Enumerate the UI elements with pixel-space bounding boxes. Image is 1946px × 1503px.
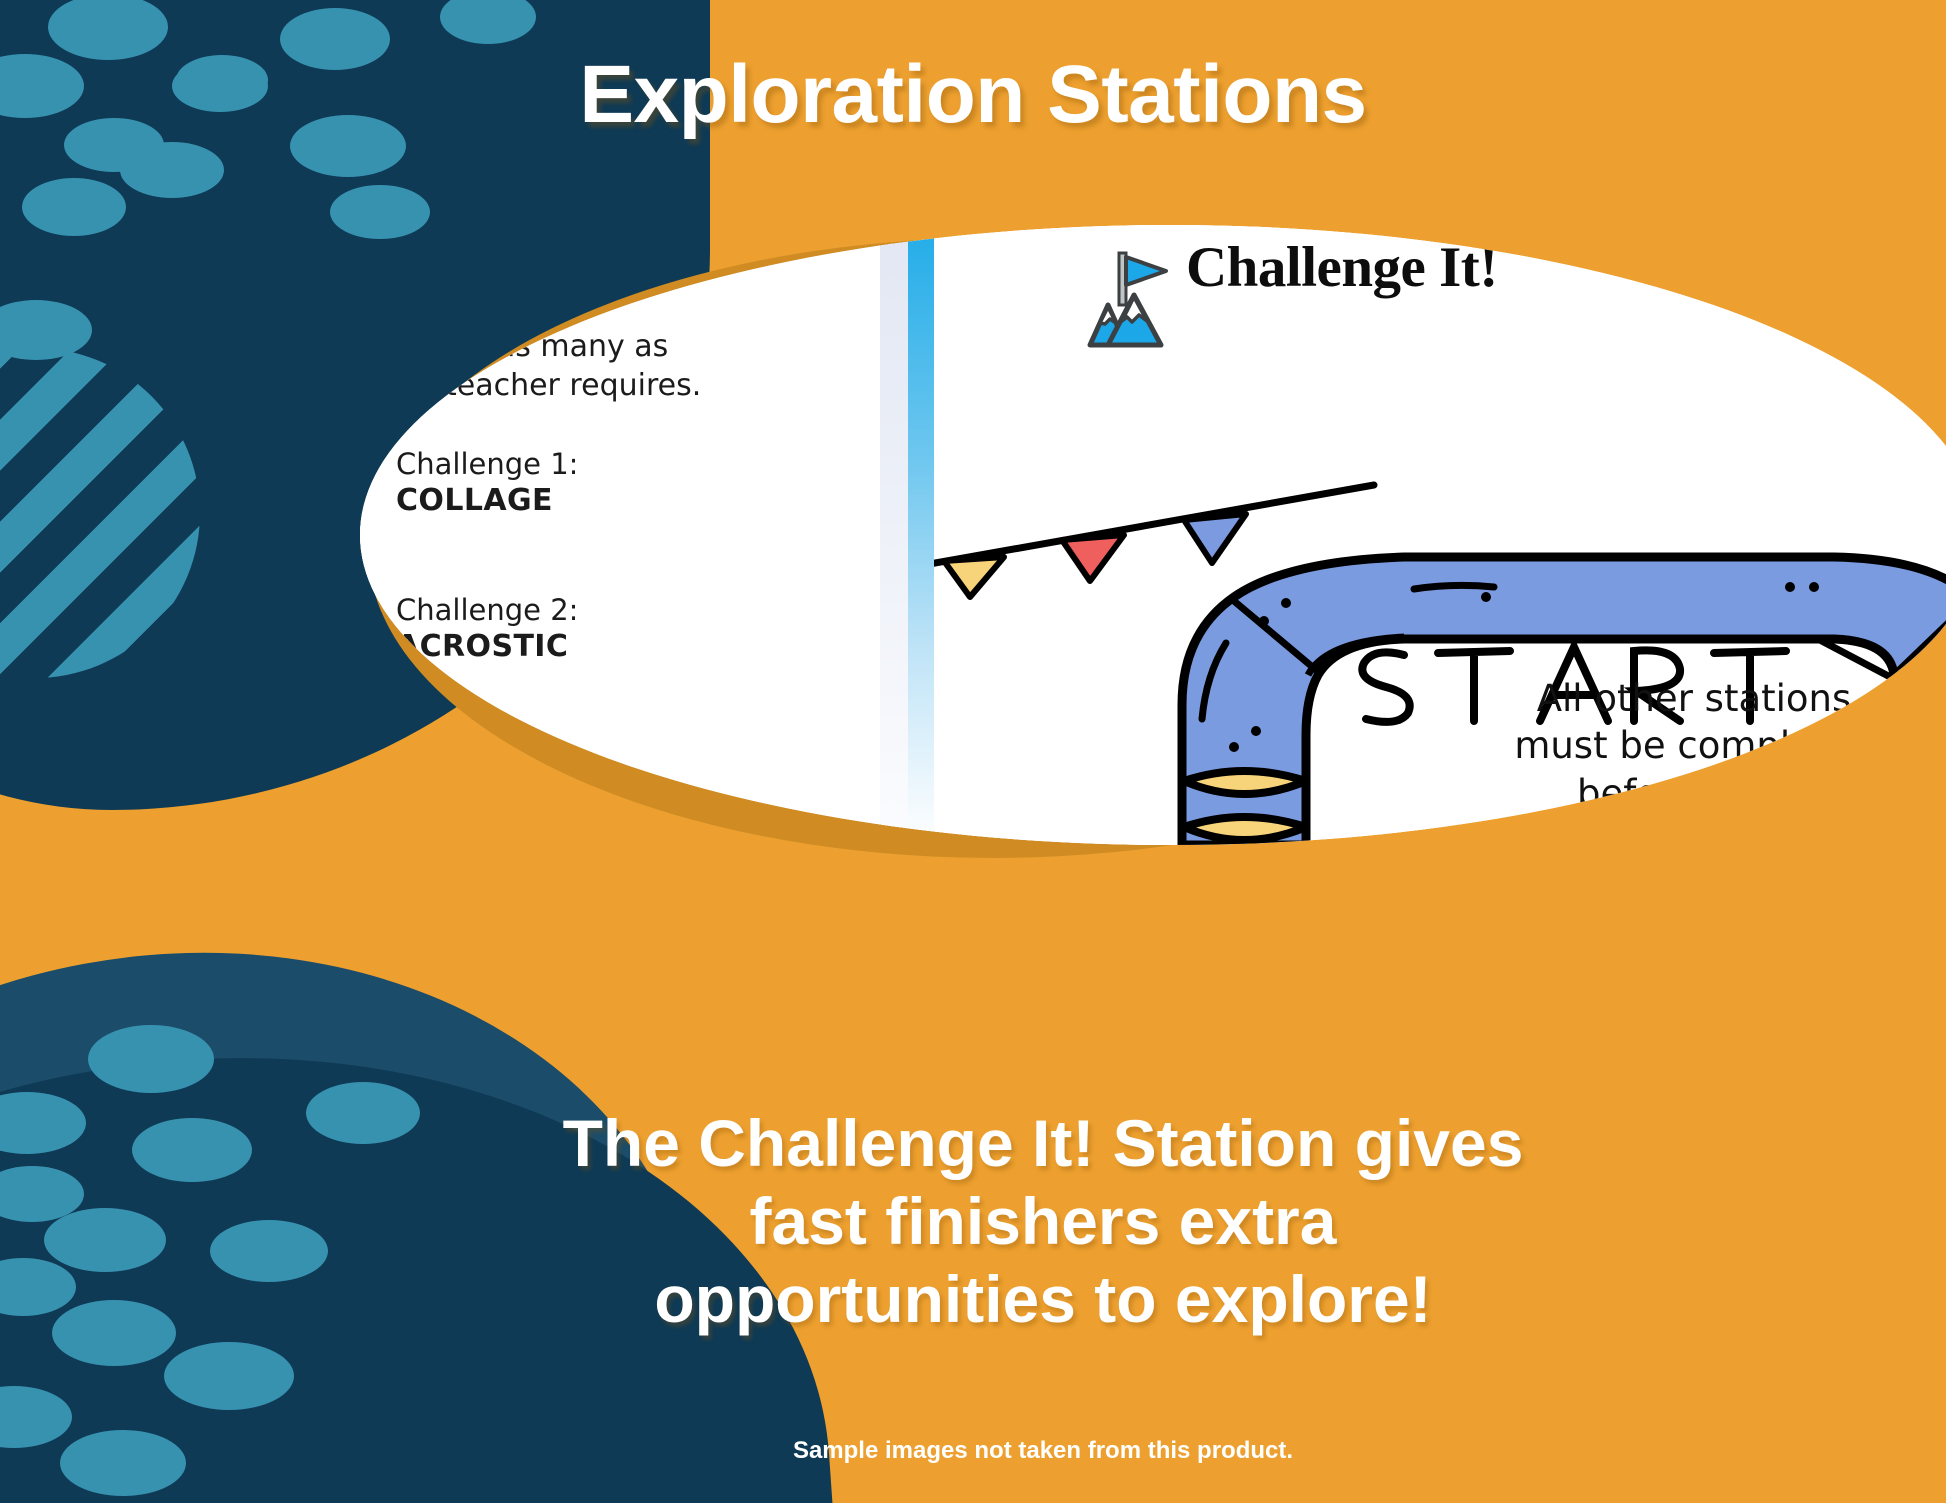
dot-decoration xyxy=(120,142,224,198)
caption-text: The Challenge It! Station gives fast fin… xyxy=(380,1105,1706,1339)
challenge-3-label: Challenge 3: xyxy=(378,737,560,771)
arch-sparkle-dot xyxy=(1481,592,1491,602)
arch-sparkle-dot xyxy=(1281,598,1291,608)
right-slide-panel: Challenge It! xyxy=(934,225,1946,845)
poster-canvas: Exploration Stations e next slides. mple… xyxy=(0,0,1946,1503)
doc-intro-line-3: your teacher requires. xyxy=(368,368,701,403)
page-title: Exploration Stations xyxy=(0,48,1946,142)
dot-decoration xyxy=(0,300,92,360)
dot-decoration xyxy=(22,178,126,236)
dot-decoration xyxy=(88,1025,214,1093)
doc-intro-line-1: e next slides. xyxy=(404,271,603,306)
arch-sparkle-dot xyxy=(1259,616,1269,626)
sample-image-content: e next slides. mplete as many as your te… xyxy=(360,225,1946,845)
challenge-3-value-line-1: SIGN AN xyxy=(376,773,520,808)
slide-title: Challenge It! xyxy=(1186,235,1498,300)
dot-decoration xyxy=(164,1342,294,1410)
disclaimer-text: Sample images not taken from this produc… xyxy=(380,1437,1706,1465)
bunting-flag-yellow xyxy=(944,557,1004,597)
doc-intro-line-2: mplete as many as xyxy=(382,329,668,364)
sample-image-oval: e next slides. mplete as many as your te… xyxy=(360,225,1946,845)
arch-text-line-2: must be completed xyxy=(1479,722,1909,769)
dot-decoration xyxy=(0,1386,72,1448)
arch-text-line-1: All other stations xyxy=(1479,675,1909,722)
arch-text-line-3: before you b xyxy=(1479,770,1909,817)
caption-line-3: opportunities to explore! xyxy=(380,1261,1706,1339)
bunting-flag-red xyxy=(1062,535,1124,581)
left-slide-panel: e next slides. mplete as many as your te… xyxy=(360,225,890,845)
arch-gold-band-upper xyxy=(1184,771,1306,794)
dot-decoration xyxy=(44,1208,166,1272)
dot-decoration xyxy=(0,1258,76,1316)
arch-sparkle-dot xyxy=(1229,742,1239,752)
caption-line-1: The Challenge It! Station gives xyxy=(380,1105,1706,1183)
bunting-flag-blue xyxy=(1184,514,1246,563)
arch-gold-band-lower xyxy=(1184,817,1306,840)
challenge-2-value: ACROSTIC xyxy=(396,629,568,664)
dot-decoration xyxy=(210,1220,328,1282)
mountain-flag-icon xyxy=(1064,245,1184,370)
blue-divider-strip xyxy=(908,225,934,845)
challenge-1-label: Challenge 1: xyxy=(396,447,578,481)
arch-sparkle-dot xyxy=(1785,582,1795,592)
challenge-3-value-line-2: ERIMENT xyxy=(370,809,523,844)
caption-line-2: fast finishers extra xyxy=(380,1183,1706,1261)
dot-decoration xyxy=(0,1166,84,1222)
bunting-string-left xyxy=(934,485,1374,565)
lavender-divider-strip xyxy=(880,225,908,845)
arch-highlight-stroke xyxy=(1414,585,1494,589)
striped-circle-decoration xyxy=(0,348,200,678)
dot-decoration xyxy=(132,1118,252,1182)
dot-decoration xyxy=(0,1092,86,1154)
dot-decoration xyxy=(440,0,536,44)
arch-sparkle-dot xyxy=(1251,726,1261,736)
arch-instruction-text: All other stations must be completed bef… xyxy=(1479,675,1909,817)
dot-decoration xyxy=(60,1430,186,1496)
dot-decoration xyxy=(52,1300,176,1366)
challenge-1-value: COLLAGE xyxy=(396,483,553,518)
arch-sparkle-dot xyxy=(1809,582,1819,592)
challenge-2-label: Challenge 2: xyxy=(396,593,578,627)
